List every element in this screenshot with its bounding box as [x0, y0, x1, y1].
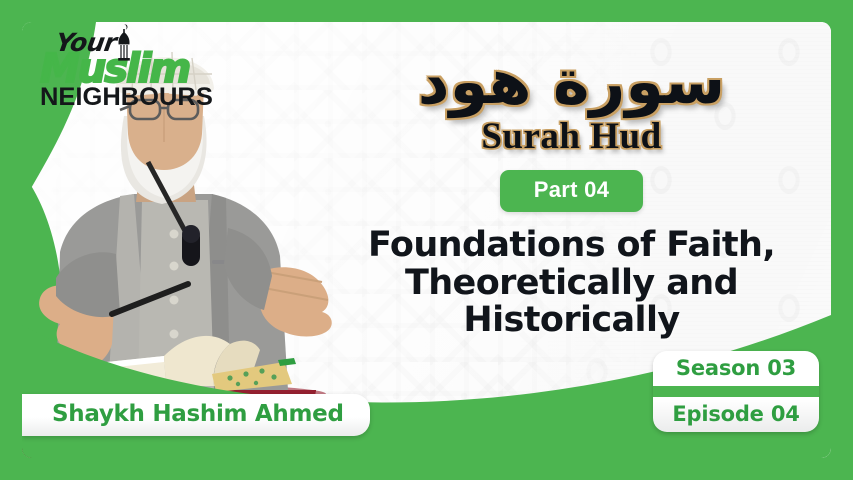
thumbnail-card: Your Muslim NEIGHBOURS سورة هود Surah Hu… — [22, 22, 831, 458]
badge-divider — [653, 386, 819, 397]
episode-title-line-3: Historically — [322, 302, 821, 339]
channel-logo: Your Muslim NEIGHBOURS — [40, 30, 200, 122]
arabic-surah-title: سورة هود — [322, 46, 821, 117]
episode-title: Foundations of Faith, Theoretically and … — [322, 227, 821, 339]
season-badge: Season 03 — [653, 351, 819, 386]
part-badge: Part 04 — [500, 170, 643, 212]
episode-badge: Episode 04 — [653, 397, 819, 432]
episode-title-line-1: Foundations of Faith, — [322, 227, 821, 264]
episode-title-line-2: Theoretically and — [322, 265, 821, 302]
speaker-name: Shaykh Hashim Ahmed — [52, 401, 344, 427]
season-episode-badges: Season 03 Episode 04 — [653, 351, 819, 432]
title-block: سورة هود Surah Hud Part 04 Foundations o… — [322, 32, 821, 340]
latin-surah-title: Surah Hud — [322, 115, 821, 158]
mosque-minaret-icon — [114, 24, 134, 64]
speaker-name-bar: Shaykh Hashim Ahmed — [22, 394, 370, 436]
video-thumbnail: Your Muslim NEIGHBOURS سورة هود Surah Hu… — [0, 0, 853, 480]
logo-line-neighbours: NEIGHBOURS — [40, 85, 203, 110]
